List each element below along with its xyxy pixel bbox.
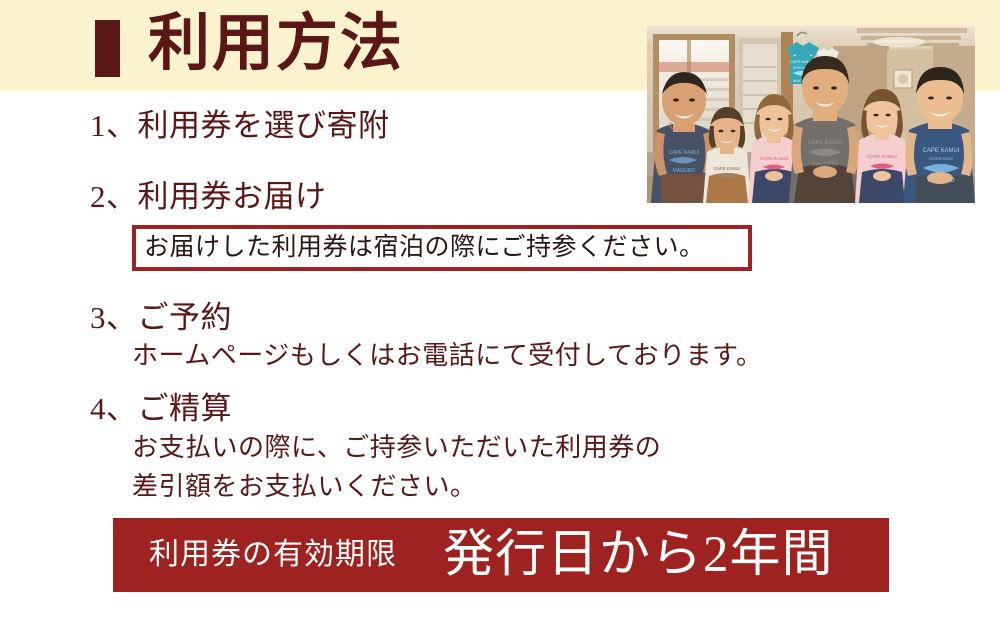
step-item-2: 2、利用券お届け: [90, 178, 327, 216]
step-4-subtext-line-1: お支払いの際に、ご持参いただいた利用券の: [132, 430, 661, 466]
callout-text: お届けした利用券は宿泊の際にご持参ください。: [136, 233, 705, 263]
step-1-number: 1、: [90, 108, 138, 143]
validity-label: 利用券の有効期限: [149, 537, 397, 573]
step-item-4: 4、ご精算: [90, 390, 232, 428]
header-accent-bar-icon: [95, 20, 120, 77]
step-4-subtext-line-2: 差引額をお支払いください。: [132, 469, 477, 505]
step-3-subtext: ホームページもしくはお電話にて受付しております。: [132, 338, 763, 374]
staff-group-photo: CAPE KAMUI HOKKAIDO MAGURO KAMUI CAPE KA…: [647, 26, 975, 203]
step-3-number: 3、: [90, 300, 138, 335]
step-4-number: 4、: [90, 391, 138, 426]
step-1-heading: 利用券を選び寄附: [138, 108, 390, 143]
step-3-heading: ご予約: [138, 300, 233, 335]
callout-box: お届けした利用券は宿泊の際にご持参ください。: [132, 225, 752, 271]
staff-group-photo-image: CAPE KAMUI HOKKAIDO MAGURO KAMUI CAPE KA…: [647, 26, 975, 203]
step-2-number: 2、: [90, 179, 138, 214]
step-2-heading: 利用券お届け: [138, 179, 327, 214]
validity-banner: 利用券の有効期限 発行日から2年間: [113, 518, 889, 592]
page-title: 利用方法: [148, 7, 404, 81]
step-4-heading: ご精算: [138, 391, 233, 426]
validity-value: 発行日から2年間: [443, 526, 834, 584]
step-item-1: 1、利用券を選び寄附: [90, 107, 390, 145]
step-item-3: 3、ご予約: [90, 299, 232, 337]
